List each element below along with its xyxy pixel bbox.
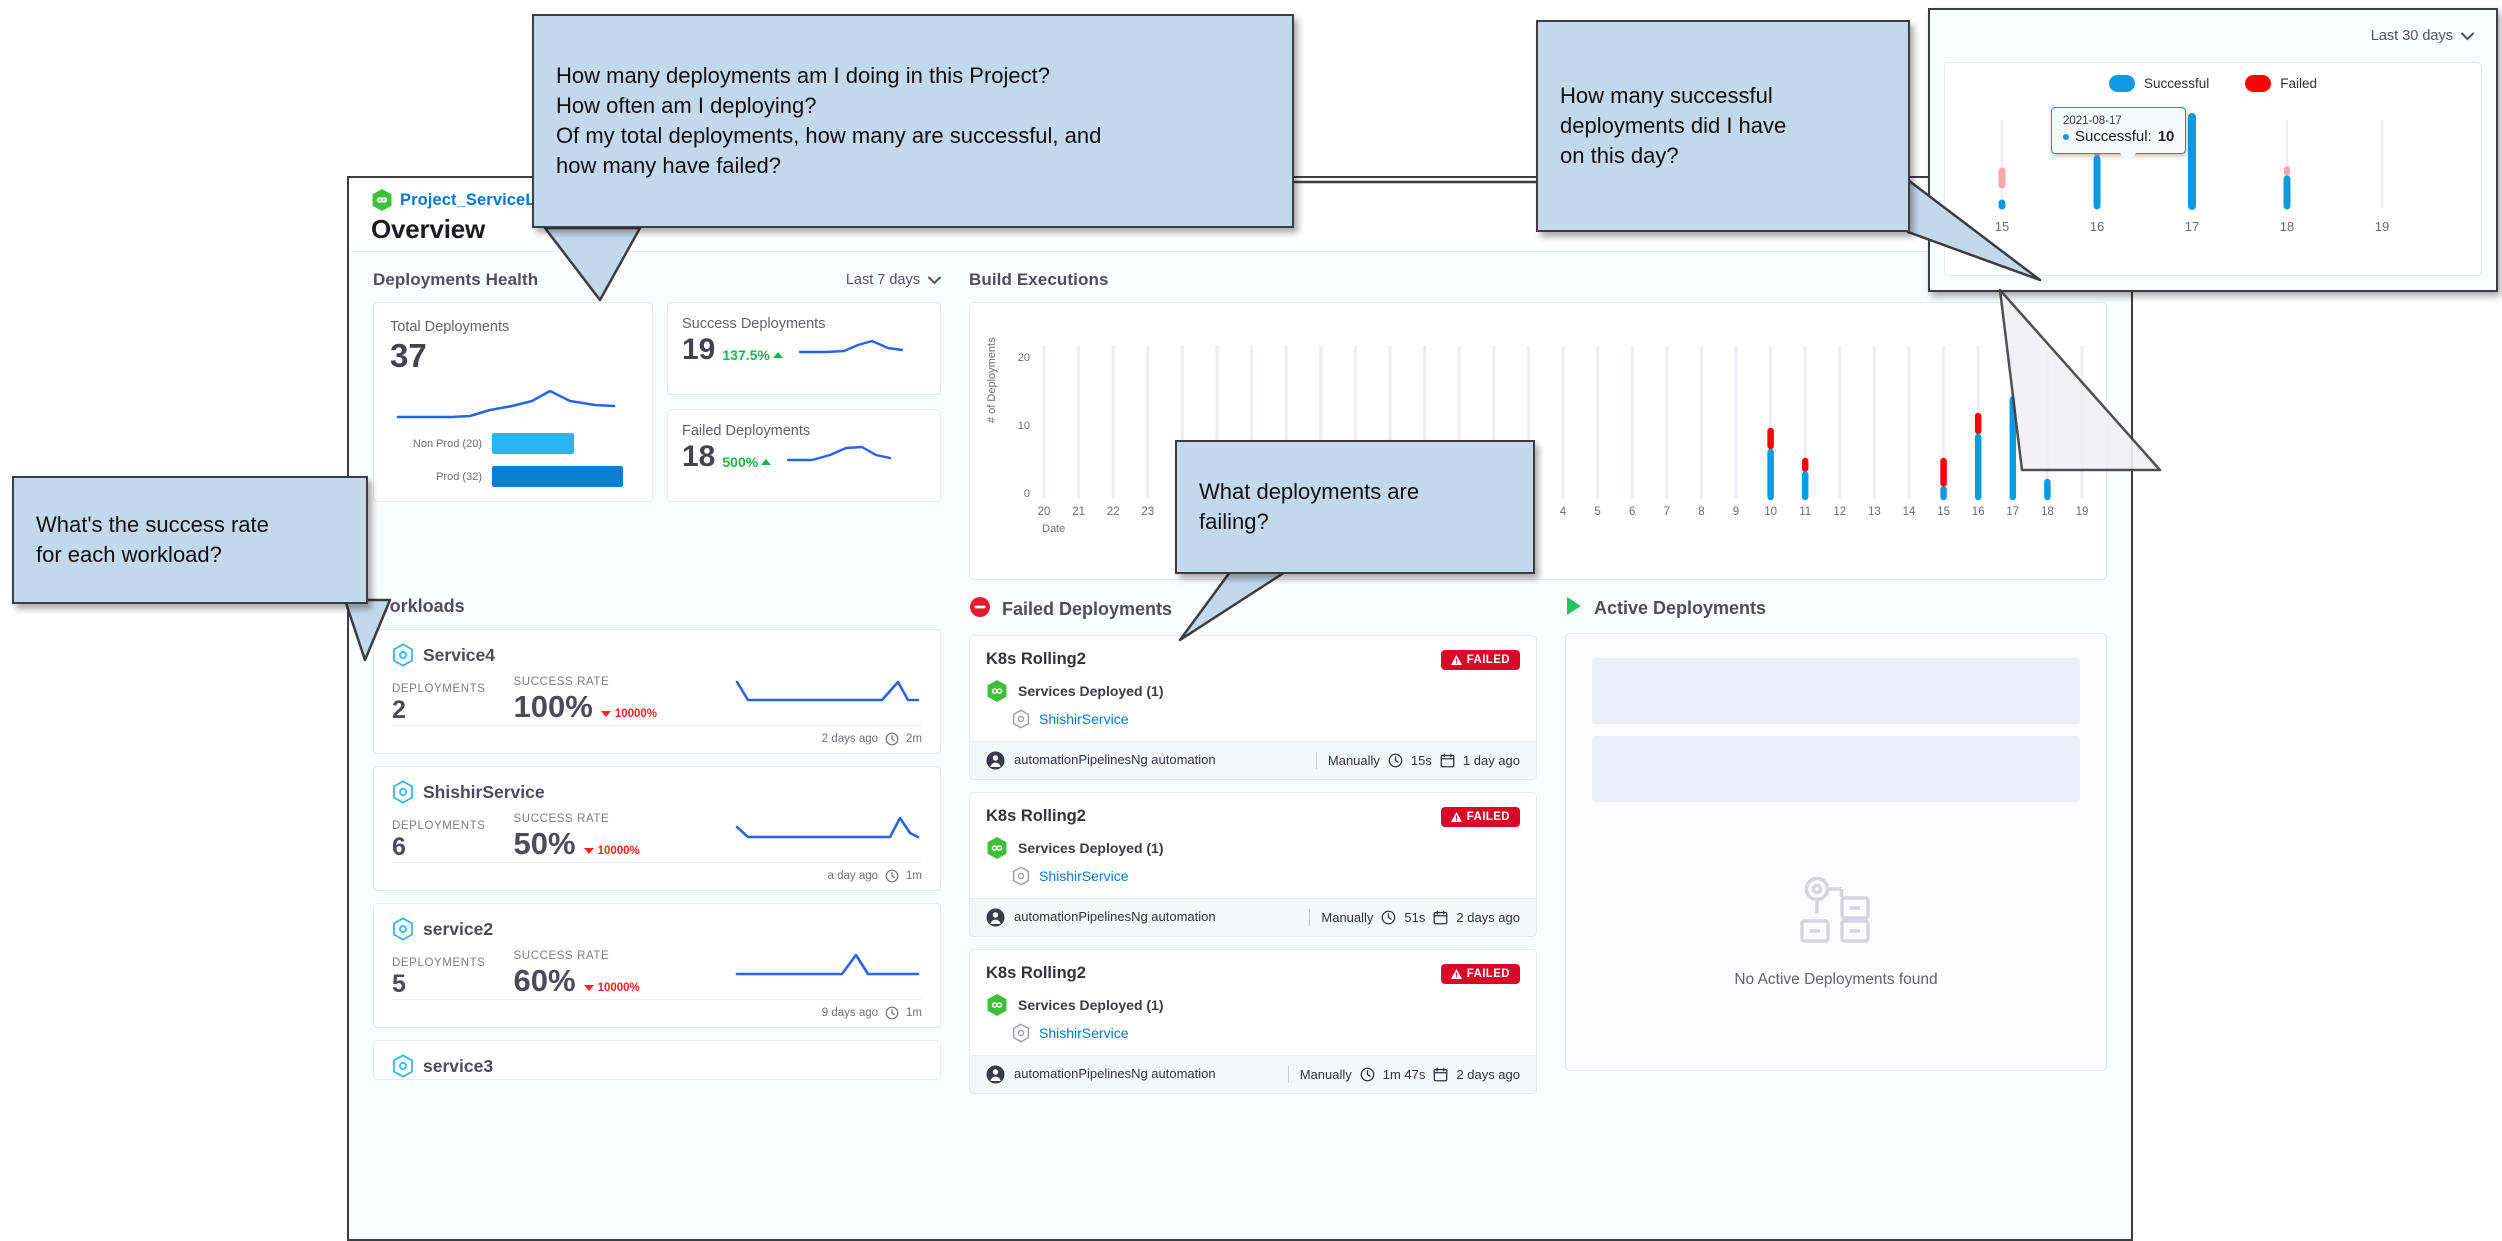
zoomed-chart-popup: Last 30 days Successful Failed (1928, 8, 2498, 292)
x-tick-17: 17 (2006, 506, 2019, 518)
deployments-caption: DEPLOYMENTS (392, 820, 486, 832)
workloads-section: Workloads Service4 DEPLOYMENTS 2 (373, 596, 941, 1094)
success-deployments-sparkline (796, 332, 906, 362)
legend-swatch-successful (2109, 75, 2135, 92)
clock-icon (1388, 753, 1403, 768)
x-tick-9: 9 (1733, 506, 1739, 518)
x-tick-21: 21 (1072, 506, 1085, 518)
env-bar-nonprod (492, 433, 574, 454)
service-link[interactable]: ShishirService (1039, 868, 1128, 884)
trigger-type: Manually (1328, 753, 1380, 768)
success-deployments-card: Success Deployments 19 137.5% (667, 302, 941, 395)
workload-name: ShishirService (423, 782, 545, 803)
workload-delta: 10000% (584, 845, 640, 857)
failed-deployment-title: K8s Rolling2 (986, 964, 1086, 983)
workloads-title: Workloads (373, 596, 941, 617)
failed-deployment-item[interactable]: K8s Rolling2 FAILED (969, 792, 1537, 937)
workload-sparkline (732, 950, 922, 986)
failed-deployment-item[interactable]: K8s Rolling2 FAILED (969, 635, 1537, 780)
workload-delta-text: 10000% (598, 982, 640, 994)
workload-name: service3 (423, 1056, 493, 1077)
x-tick-8: 8 (1698, 506, 1704, 518)
service-icon (1012, 709, 1030, 729)
x-tick-12: 12 (1833, 506, 1846, 518)
x-tick-20: 20 (1038, 506, 1051, 518)
deployments-health-header: Deployments Health Last 7 days (373, 270, 941, 290)
x-tick-7: 7 (1664, 506, 1670, 518)
failed-deployments-value: 18 (682, 442, 715, 472)
callout-text: What's the success rate for each workloa… (14, 510, 291, 570)
warning-icon (1451, 812, 1462, 822)
x-tick-16: 16 (2090, 219, 2104, 234)
legend-label-failed: Failed (2280, 76, 2317, 91)
callout-failing-question: What deployments are failing? (1175, 440, 1535, 574)
callout-success-rate-question: What's the success rate for each workloa… (12, 476, 368, 604)
success-deployments-label: Success Deployments (682, 316, 926, 332)
duration: 1m 47s (1383, 1067, 1426, 1082)
failed-status-icon (969, 596, 991, 623)
service-icon (392, 643, 414, 667)
services-deployed-label: Services Deployed (1) (1018, 840, 1164, 856)
services-deployed-icon (986, 993, 1008, 1017)
workload-delta-text: 10000% (615, 708, 657, 720)
calendar-icon (1433, 1067, 1448, 1082)
status-badge-text: FAILED (1467, 968, 1510, 980)
clock-icon (885, 1006, 899, 1020)
build-executions-title: Build Executions (969, 270, 1109, 290)
duration: 15s (1411, 753, 1432, 768)
status-badge: FAILED (1441, 650, 1520, 670)
x-tick-18: 18 (2041, 506, 2054, 518)
svg-text:20: 20 (1018, 352, 1030, 364)
workload-card-service2[interactable]: service2 DEPLOYMENTS 5 SUCCESS RATE 60% (373, 903, 941, 1028)
workload-success-rate: 60% (514, 963, 576, 999)
service-icon (392, 917, 414, 941)
workload-card-shishirservice[interactable]: ShishirService DEPLOYMENTS 6 SUCCESS RAT… (373, 766, 941, 891)
tooltip-series-dot (2063, 134, 2069, 140)
zoomed-build-chart[interactable]: 15 16 17 18 19 (1947, 107, 2487, 259)
status-badge: FAILED (1441, 964, 1520, 984)
svg-text:0: 0 (1024, 488, 1030, 500)
x-tick-11: 11 (1799, 506, 1811, 518)
breadcrumb-project-link[interactable]: Project_ServiceL (400, 191, 536, 210)
build-executions-chart[interactable]: 20 10 0 20212223242526272829303112345678… (982, 317, 2102, 567)
callout-deployments-question: How many deployments am I doing in this … (532, 14, 1294, 228)
active-deployments-empty-card: No Active Deployments found (1565, 633, 2107, 1071)
chart-tooltip: 2021-08-17 Successful: 10 (2051, 107, 2186, 154)
workload-sparkline (732, 813, 922, 849)
svg-text:Date: Date (1042, 523, 1065, 535)
environment-bars: Non Prod (20) Prod (32) (390, 421, 638, 487)
popup-chart-card: Successful Failed (1944, 62, 2482, 276)
when: 2 days ago (1456, 910, 1520, 925)
user-icon (986, 908, 1005, 927)
skeleton-row (1592, 658, 2080, 724)
service-icon (392, 780, 414, 804)
trigger-type: Manually (1300, 1067, 1352, 1082)
failed-deployments-title: Failed Deployments (1002, 599, 1172, 620)
x-tick-17: 17 (2185, 219, 2199, 234)
failed-deployment-title: K8s Rolling2 (986, 650, 1086, 669)
bottom-region: Workloads Service4 DEPLOYMENTS 2 (349, 580, 2131, 1094)
play-icon (1565, 596, 1583, 621)
chart-legend: Successful Failed (1945, 63, 2481, 92)
x-tick-19: 19 (2076, 506, 2089, 518)
failed-deployment-item[interactable]: K8s Rolling2 FAILED (969, 949, 1537, 1094)
success-delta-text: 137.5% (722, 347, 769, 363)
workload-duration: 1m (906, 1007, 922, 1019)
service-icon (1012, 866, 1030, 886)
empty-state: No Active Deployments found (1566, 872, 2106, 989)
service-link[interactable]: ShishirService (1039, 711, 1128, 727)
warning-icon (1451, 969, 1462, 979)
svg-text:10: 10 (1018, 420, 1030, 432)
chevron-down-icon (2461, 32, 2474, 41)
workload-delta: 10000% (601, 708, 657, 720)
legend-swatch-failed (2245, 75, 2271, 92)
service-icon (392, 1054, 414, 1078)
workload-card-service3[interactable]: service3 (373, 1040, 941, 1080)
tooltip-date: 2021-08-17 (2063, 115, 2174, 127)
status-badge: FAILED (1441, 807, 1520, 827)
total-deployments-value: 37 (390, 337, 636, 375)
build-executions-ylabel: # of Deployments (986, 337, 998, 423)
build-executions-card: # of Deployments 20 10 0 202122232425262… (969, 302, 2107, 580)
total-deployments-label: Total Deployments (390, 319, 636, 335)
project-icon (371, 188, 393, 212)
deployments-health-section: Deployments Health Last 7 days Total Dep… (373, 270, 941, 580)
x-tick-23: 23 (1141, 506, 1154, 518)
failed-deployments-sparkline (784, 439, 894, 469)
x-tick-13: 13 (1868, 506, 1881, 518)
success-rate-caption: SUCCESS RATE (514, 813, 640, 825)
x-tick-18: 18 (2280, 219, 2294, 234)
trigger-type: Manually (1321, 910, 1373, 925)
divider (1309, 909, 1310, 926)
workload-name: Service4 (423, 645, 495, 666)
failed-deployments-section: Failed Deployments K8s Rolling2 FAILED (969, 596, 1537, 1094)
legend-item-failed: Failed (2245, 75, 2317, 92)
x-tick-5: 5 (1594, 506, 1600, 518)
failed-delta-text: 500% (722, 454, 758, 470)
deployments-health-title: Deployments Health (373, 270, 538, 290)
status-badge-text: FAILED (1467, 811, 1510, 823)
success-rate-caption: SUCCESS RATE (514, 950, 640, 962)
workload-card-service4[interactable]: Service4 DEPLOYMENTS 2 SUCCESS RATE 100% (373, 629, 941, 754)
failed-deployment-title: K8s Rolling2 (986, 807, 1086, 826)
triggered-by-user: automationPipelinesNg automation (1014, 909, 1216, 925)
failed-deployments-card: Failed Deployments 18 500% (667, 409, 941, 502)
workload-sparkline (732, 676, 922, 712)
callout-text: What deployments are failing? (1177, 477, 1441, 537)
service-link[interactable]: ShishirService (1039, 1025, 1128, 1041)
workload-last-run: a day ago (828, 870, 879, 882)
calendar-icon (1440, 753, 1455, 768)
env-label-nonprod: Non Prod (20) (390, 438, 482, 450)
trend-up-icon (761, 459, 771, 465)
x-tick-4: 4 (1560, 506, 1567, 518)
status-badge-text: FAILED (1467, 654, 1510, 666)
success-deployments-delta: 137.5% (722, 347, 782, 363)
popup-range-label: Last 30 days (2371, 28, 2453, 44)
popup-range-picker[interactable]: Last 30 days (2371, 28, 2474, 44)
success-deployments-value: 19 (682, 335, 715, 365)
trend-down-icon (584, 985, 594, 991)
x-tick-6: 6 (1629, 506, 1635, 518)
active-deployments-title: Active Deployments (1594, 598, 1766, 619)
x-tick-15: 15 (1995, 219, 2009, 234)
workload-delta-text: 10000% (598, 845, 640, 857)
active-deployments-section: Active Deployments (1565, 596, 2107, 1094)
tooltip-value: 10 (2158, 128, 2175, 145)
when: 2 days ago (1456, 1067, 1520, 1082)
build-executions-section: Build Executions # of Deployments 20 10 … (969, 270, 2107, 580)
failed-deployments-delta: 500% (722, 454, 771, 470)
tooltip-value-row: Successful: 10 (2063, 128, 2174, 145)
clock-icon (885, 869, 899, 883)
workload-success-rate: 50% (514, 826, 576, 862)
user-icon (986, 1065, 1005, 1084)
triggered-by-user: automationPipelinesNg automation (1014, 1066, 1216, 1082)
chevron-down-icon (928, 276, 941, 285)
env-row-nonprod: Non Prod (20) (390, 433, 638, 454)
services-deployed-label: Services Deployed (1) (1018, 683, 1164, 699)
x-tick-15: 15 (1937, 506, 1950, 518)
x-tick-14: 14 (1903, 506, 1916, 518)
divider (1288, 1066, 1289, 1083)
deployments-health-range-picker[interactable]: Last 7 days (846, 272, 941, 288)
workload-deployments: 5 (392, 970, 486, 999)
clock-icon (1360, 1067, 1375, 1082)
workload-name: service2 (423, 919, 493, 940)
trend-down-icon (601, 711, 611, 717)
workload-last-run: 2 days ago (822, 733, 878, 745)
workload-duration: 1m (906, 870, 922, 882)
success-rate-caption: SUCCESS RATE (514, 676, 658, 688)
services-deployed-icon (986, 836, 1008, 860)
callout-successful-day-question: How many successful deployments did I ha… (1536, 20, 1910, 232)
user-icon (986, 751, 1005, 770)
range-label: Last 7 days (846, 272, 920, 288)
popup-header: Last 30 days (1930, 10, 2496, 62)
workload-delta: 10000% (584, 982, 640, 994)
warning-icon (1451, 655, 1462, 665)
clock-icon (1381, 910, 1396, 925)
duration: 51s (1404, 910, 1425, 925)
dashboard-window: Project_ServiceL Overview Deployments He… (347, 176, 2133, 1241)
env-bar-prod (492, 466, 623, 487)
total-deployments-card: Total Deployments 37 Non Prod (20) Prod … (373, 302, 653, 502)
trend-up-icon (773, 352, 783, 358)
env-row-prod: Prod (32) (390, 466, 638, 487)
workload-success-rate: 100% (514, 689, 593, 725)
x-tick-22: 22 (1107, 506, 1120, 518)
failed-deployments-label: Failed Deployments (682, 423, 926, 439)
tooltip-series-label: Successful: (2075, 128, 2152, 145)
when: 1 day ago (1463, 753, 1520, 768)
trend-down-icon (584, 848, 594, 854)
clock-icon (885, 732, 899, 746)
services-deployed-icon (986, 679, 1008, 703)
workload-deployments: 6 (392, 833, 486, 862)
x-tick-10: 10 (1764, 506, 1777, 518)
deployment-empty-icon (1793, 872, 1879, 954)
deployments-caption: DEPLOYMENTS (392, 683, 486, 695)
triggered-by-user: automationPipelinesNg automation (1014, 752, 1216, 768)
legend-item-successful: Successful (2109, 75, 2209, 92)
workload-duration: 2m (906, 733, 922, 745)
x-tick-19: 19 (2375, 219, 2389, 234)
env-label-prod: Prod (32) (390, 471, 482, 483)
service-icon (1012, 1023, 1030, 1043)
x-tick-16: 16 (1972, 506, 1985, 518)
services-deployed-label: Services Deployed (1) (1018, 997, 1164, 1013)
legend-label-successful: Successful (2144, 76, 2209, 91)
calendar-icon (1433, 910, 1448, 925)
workload-deployments: 2 (392, 696, 486, 725)
workload-last-run: 9 days ago (822, 1007, 878, 1019)
divider (1316, 752, 1317, 769)
callout-text: How many successful deployments did I ha… (1538, 81, 1808, 171)
deployments-caption: DEPLOYMENTS (392, 957, 486, 969)
skeleton-row (1592, 736, 2080, 802)
callout-text: How many deployments am I doing in this … (534, 61, 1123, 182)
empty-state-text: No Active Deployments found (1566, 971, 2106, 989)
